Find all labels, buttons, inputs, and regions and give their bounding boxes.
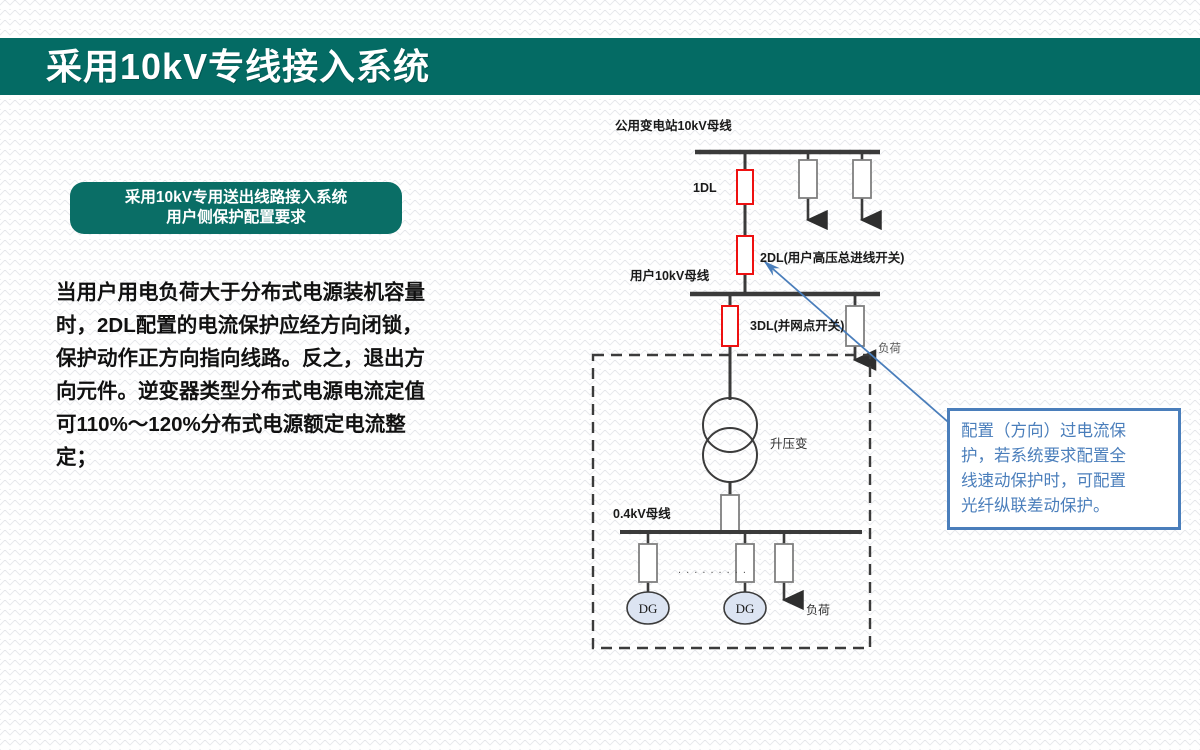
page-title: 采用10kV专线接入系统 bbox=[46, 44, 430, 90]
body-paragraph: 当用户用电负荷大于分布式电源装机容量时，2DL配置的电流保护应经方向闭锁，保护动… bbox=[56, 276, 428, 474]
label-lv-bus: 0.4kV母线 bbox=[613, 506, 671, 521]
label-user-bus: 用户10kV母线 bbox=[629, 268, 710, 283]
subtitle-pill: 采用10kV专用送出线路接入系统 用户侧保护配置要求 bbox=[70, 182, 402, 234]
label-ellipsis: . . . . . . . . . bbox=[678, 564, 747, 576]
callout-box: 配置（方向）过电流保 护，若系统要求配置全 线速动保护时，可配置 光纤纵联差动保… bbox=[947, 408, 1181, 530]
label-breaker-3dl: 3DL(并网点开关) bbox=[750, 318, 844, 333]
label-load-bottom: 负荷 bbox=[806, 603, 830, 617]
single-line-diagram: 公用变电站10kV母线 1DL 2DL(用户高压总进线开关) 用户10kV母线 … bbox=[560, 110, 1200, 670]
callout-line-3: 线速动保护时，可配置 bbox=[961, 469, 1169, 494]
label-transformer: 升压变 bbox=[770, 436, 808, 451]
slide-root: 采用10kV专线接入系统 采用10kV专用送出线路接入系统 用户侧保护配置要求 … bbox=[0, 0, 1200, 750]
callout-line-4: 光纤纵联差动保护。 bbox=[961, 494, 1169, 519]
callout-line-1: 配置（方向）过电流保 bbox=[961, 419, 1169, 444]
callout-line-2: 护，若系统要求配置全 bbox=[961, 444, 1169, 469]
label-dg-right: DG bbox=[736, 601, 755, 616]
label-breaker-2dl: 2DL(用户高压总进线开关) bbox=[760, 250, 904, 265]
label-public-bus: 公用变电站10kV母线 bbox=[615, 118, 732, 133]
subtitle-line-1: 采用10kV专用送出线路接入系统 bbox=[125, 188, 347, 208]
label-load-top: 负荷 bbox=[878, 341, 901, 355]
label-dg-left: DG bbox=[639, 601, 658, 616]
label-breaker-1dl: 1DL bbox=[693, 181, 717, 195]
subtitle-line-2: 用户侧保护配置要求 bbox=[166, 208, 306, 228]
